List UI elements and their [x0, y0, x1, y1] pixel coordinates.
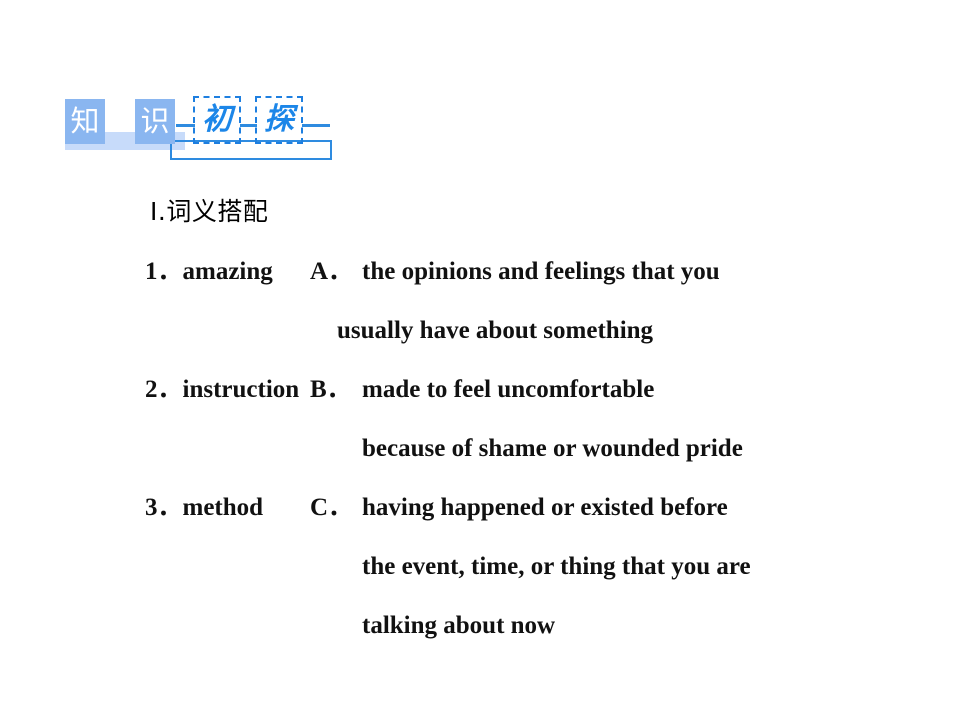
page-title: Ⅰ.词义搭配	[0, 192, 960, 228]
list-item: 1．amazingA．the opinions and feelings tha…	[0, 242, 960, 301]
item-term-3: 3．method	[145, 478, 310, 537]
item-word-2: instruction	[183, 376, 300, 403]
item-number-2: 2．	[145, 376, 183, 403]
item-word-3: method	[183, 494, 264, 521]
item-definition-2-line-1: made to feel uncomfortable	[362, 376, 654, 403]
item-number-1: 1．	[145, 258, 183, 285]
item-definition-1-line-2: usually have about something	[0, 301, 960, 360]
item-letter-2: B．	[310, 360, 362, 419]
badge-connector-dash-3	[302, 124, 330, 127]
item-letter-3: C．	[310, 478, 362, 537]
word-matching-list: 1．amazingA．the opinions and feelings tha…	[0, 242, 960, 655]
item-term-1: 1．amazing	[145, 242, 310, 301]
item-word-1: amazing	[183, 258, 273, 285]
badge-char-shi: 识	[135, 99, 175, 144]
list-item: 3．methodC．having happened or existed bef…	[0, 478, 960, 537]
section-badge: 知 识 初 探	[62, 96, 362, 168]
badge-char-tan: 探	[255, 96, 303, 144]
item-definition-3-line-3: talking about now	[0, 596, 960, 655]
main-content: Ⅰ.词义搭配 1．amazingA．the opinions and feeli…	[0, 192, 960, 655]
item-number-3: 3．	[145, 494, 183, 521]
list-item: 2．instructionB．made to feel uncomfortabl…	[0, 360, 960, 419]
item-term-2: 2．instruction	[145, 360, 310, 419]
item-definition-3-line-1: having happened or existed before	[362, 494, 728, 521]
item-definition-2-line-2: because of shame or wounded pride	[0, 419, 960, 478]
badge-char-chu: 初	[193, 96, 241, 144]
item-definition-3-line-2: the event, time, or thing that you are	[0, 537, 960, 596]
item-definition-1-line-1: the opinions and feelings that you	[362, 258, 720, 285]
badge-char-zhi: 知	[65, 99, 105, 144]
item-letter-1: A．	[310, 242, 362, 301]
